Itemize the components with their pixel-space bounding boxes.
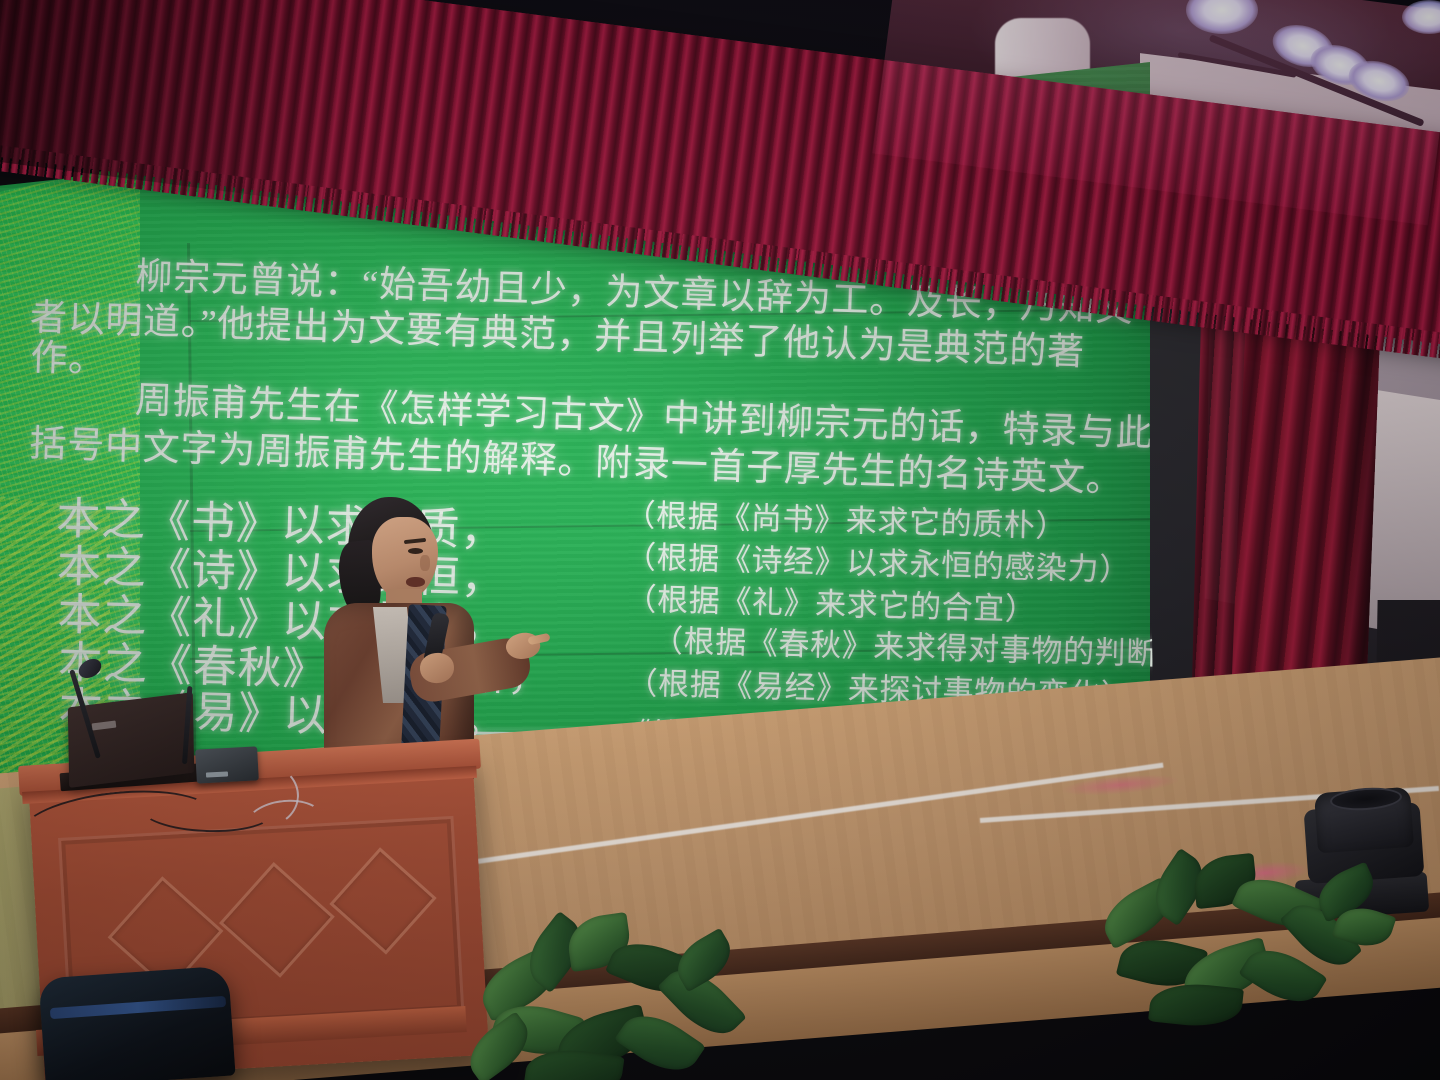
slide-paragraph-1c: 作。 [30,327,107,383]
lectern-diamond-motif-3 [329,847,436,954]
speaker-nose [420,555,430,571]
stage-photo-scene: 柳宗元曾说：“始吾幼且少，为文章以辞为工。及长，乃知文 者以明道。”他提出为文要… [0,0,1440,1080]
stage-plant-center [460,910,780,1080]
laptop-lid [68,692,194,788]
stage-plant-right [1090,852,1390,1032]
lectern-diamond-motif-2 [219,862,335,978]
speaker-mouth [406,577,425,587]
floor-monitor-speaker [38,966,235,1080]
speaker-eye [408,548,423,554]
